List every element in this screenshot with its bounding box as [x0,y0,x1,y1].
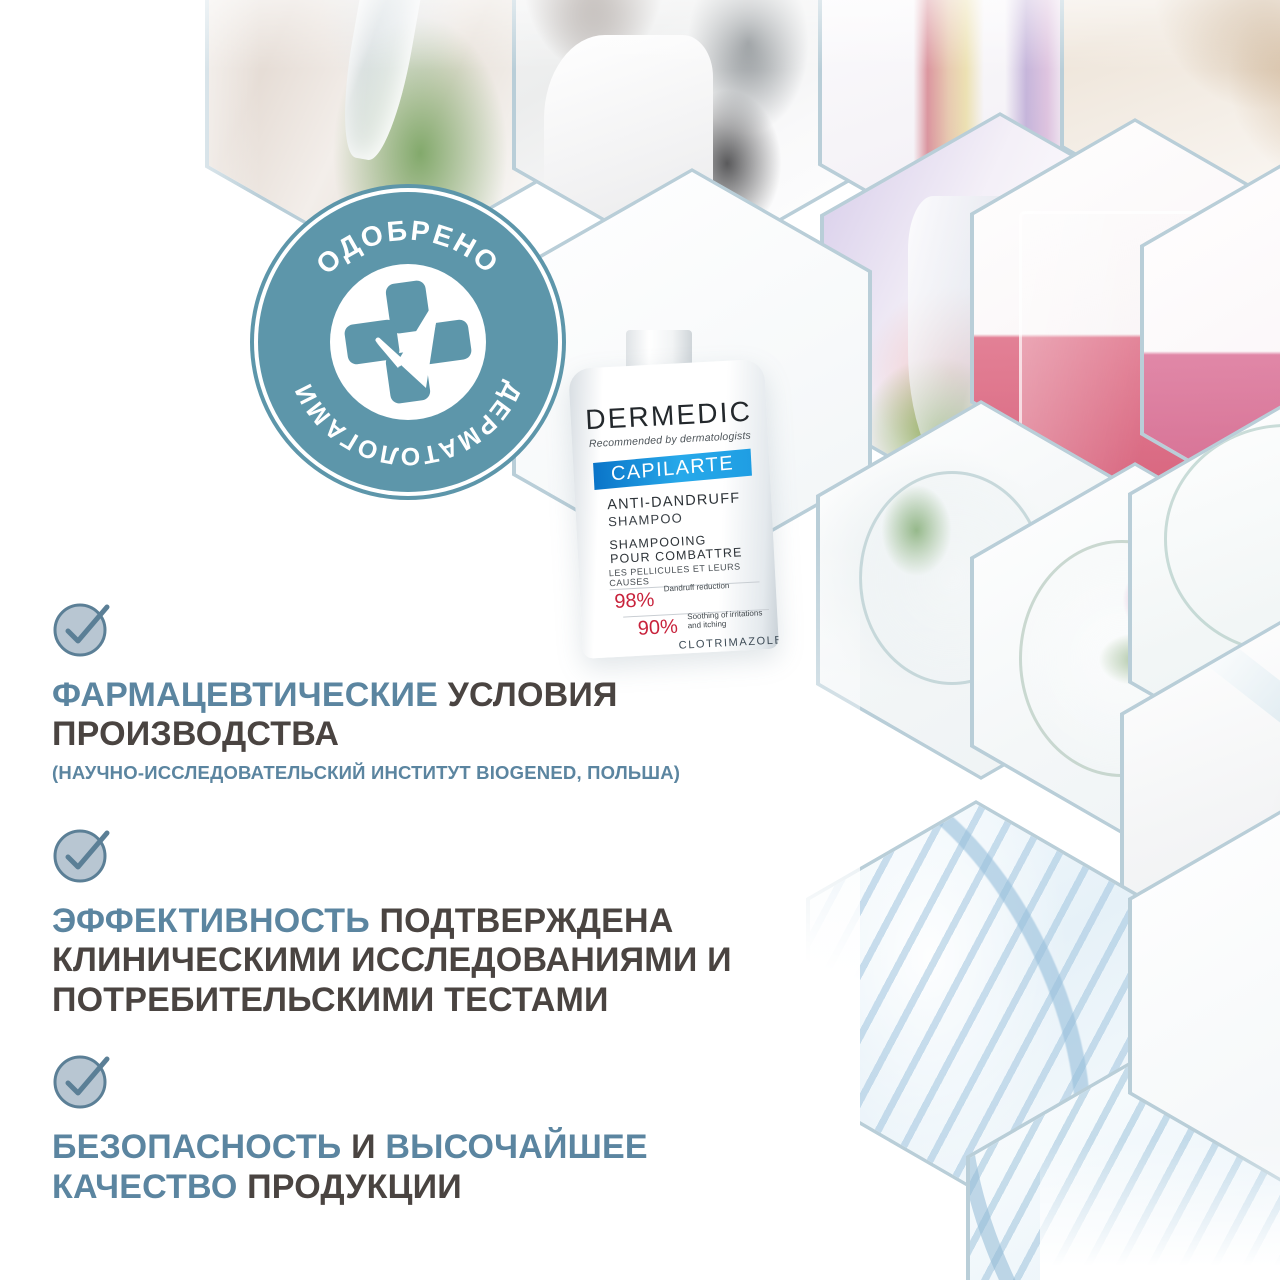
feature-text: ФАРМАЦЕВТИЧЕСКИЕ УСЛОВИЯ ПРОИЗВОДСТВА [52,676,772,755]
capilarte-banner: CAPILARTE [593,449,752,490]
feature-item-pharmaceutical: ФАРМАЦЕВТИЧЕСКИЕ УСЛОВИЯ ПРОИЗВОДСТВА (Н… [52,598,772,784]
feature-rest: ПРОДУКЦИИ [238,1168,462,1206]
feature-list: ФАРМАЦЕВТИЧЕСКИЕ УСЛОВИЯ ПРОИЗВОДСТВА (Н… [52,598,772,1241]
medical-cross-check-icon [342,276,474,408]
claim-subtitle-en: SHAMPOO [608,510,684,529]
check-circle-icon [52,1050,114,1112]
check-circle-icon [52,598,114,660]
feature-text: БЕЗОПАСНОСТЬ И ВЫСОЧАЙШЕЕ КАЧЕСТВО ПРОДУ… [52,1128,772,1207]
feature-subtext: (НАУЧНО-ИССЛЕДОВАТЕЛЬСКИЙ ИНСТИТУТ BIOGE… [52,762,772,784]
capilarte-label: CAPILARTE [610,452,734,486]
check-circle-icon [52,824,114,886]
seal-top-label: ОДОБРЕНО [310,215,506,281]
feature-highlight: ЭФФЕКТИВНОСТЬ [52,902,370,940]
svg-text:ОДОБРЕНО: ОДОБРЕНО [310,215,506,281]
feature-mid: И [341,1128,385,1166]
dermatologist-approval-seal: ОДОБРЕНО ДЕРМАТОЛОГАМИ [258,192,558,492]
feature-highlight: БЕЗОПАСНОСТЬ [52,1128,341,1166]
poster-canvas: DERMEDIC Recommended by dermatologists C… [0,0,1280,1280]
feature-text: ЭФФЕКТИВНОСТЬ ПОДТВЕРЖДЕНА КЛИНИЧЕСКИМИ … [52,902,772,1020]
feature-highlight: ФАРМАЦЕВТИЧЕСКИЕ [52,676,438,714]
feature-item-efficacy: ЭФФЕКТИВНОСТЬ ПОДТВЕРЖДЕНА КЛИНИЧЕСКИМИ … [52,824,772,1020]
feature-item-safety: БЕЗОПАСНОСТЬ И ВЫСОЧАЙШЕЕ КАЧЕСТВО ПРОДУ… [52,1050,772,1207]
